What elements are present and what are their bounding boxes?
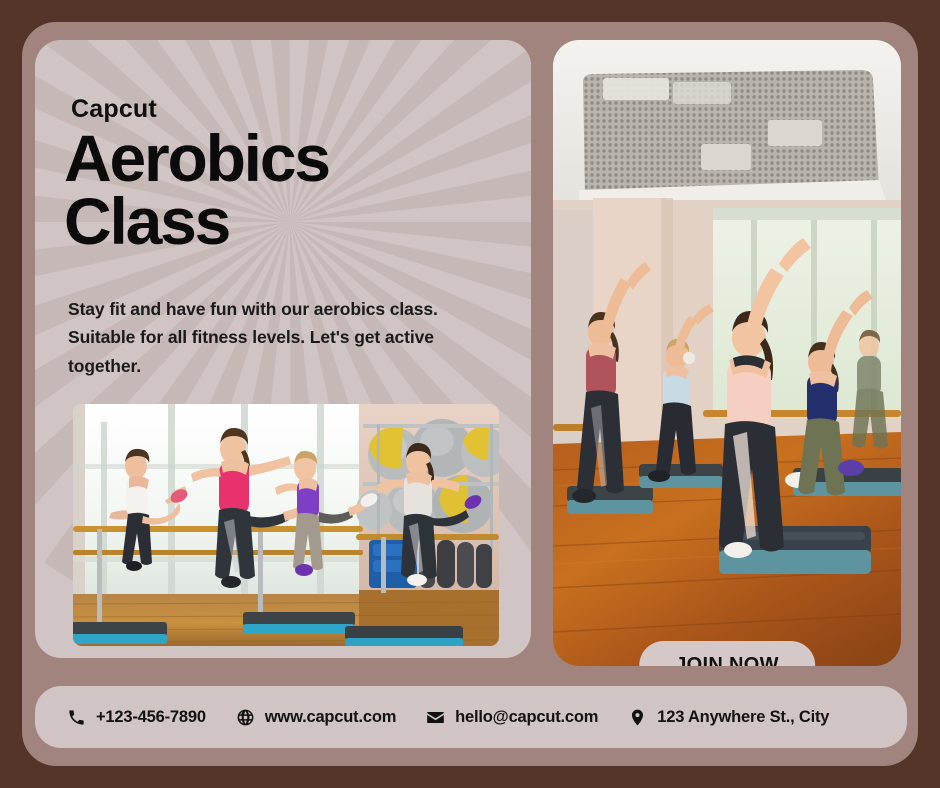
contact-website[interactable]: www.capcut.com <box>236 708 396 727</box>
page-title: Aerobics Class <box>64 127 504 254</box>
studio-class-photo: JOIN NOW <box>553 40 901 666</box>
phone-icon <box>67 708 86 727</box>
join-now-button[interactable]: JOIN NOW <box>639 641 815 666</box>
contact-address-text: 123 Anywhere St., City <box>657 708 829 727</box>
brand-name: Capcut <box>71 95 157 124</box>
contact-phone[interactable]: +123-456-7890 <box>67 708 206 727</box>
headline-line-2: Class <box>64 190 504 253</box>
barre-class-photo <box>73 404 499 646</box>
contact-footer-bar: +123-456-7890 www.capcut.com hello@capcu… <box>35 686 907 748</box>
contact-phone-text: +123-456-7890 <box>96 708 206 727</box>
location-pin-icon <box>628 708 647 727</box>
poster-canvas: Capcut Aerobics Class Stay fit and have … <box>0 0 940 788</box>
description-text: Stay fit and have fun with our aerobics … <box>68 295 488 380</box>
contact-website-text: www.capcut.com <box>265 708 396 727</box>
left-content-panel: Capcut Aerobics Class Stay fit and have … <box>35 40 531 658</box>
envelope-icon <box>426 708 445 727</box>
contact-email-text: hello@capcut.com <box>455 708 598 727</box>
contact-address[interactable]: 123 Anywhere St., City <box>628 708 829 727</box>
globe-icon <box>236 708 255 727</box>
contact-email[interactable]: hello@capcut.com <box>426 708 598 727</box>
